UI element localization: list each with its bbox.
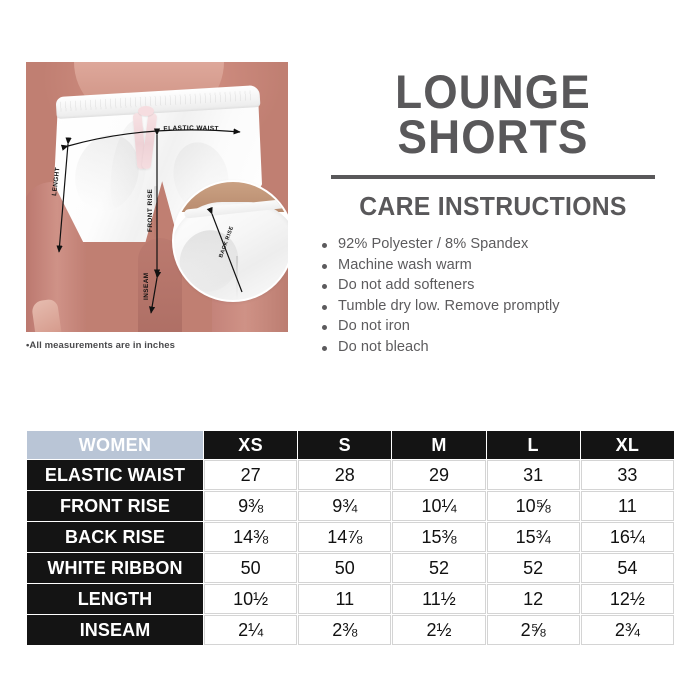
cell-white-ribbon-l: 52 xyxy=(487,553,580,583)
cell-elastic-waist-xl: 33 xyxy=(581,460,674,490)
product-photo-panel: ELASTIC WAIST LENGHT FRONT RISE INSEAM B… xyxy=(26,62,288,362)
size-table-body: ELASTIC WAIST 27 28 29 31 33 FRONT RISE … xyxy=(27,460,674,645)
cell-back-rise-xs: 14⅜ xyxy=(204,522,297,552)
table-row: LENGTH 10½ 11 11½ 12 12½ xyxy=(27,584,674,614)
inseam-arrow xyxy=(151,278,157,313)
row-label-front-rise: FRONT RISE xyxy=(27,491,203,521)
list-item: Do not bleach xyxy=(322,339,678,355)
list-item: Do not add softeners xyxy=(322,277,678,293)
cell-white-ribbon-m: 52 xyxy=(392,553,485,583)
care-instructions-heading: CARE INSTRUCTIONS xyxy=(314,193,673,222)
cell-back-rise-s: 14⅞ xyxy=(298,522,391,552)
callout-elastic-waist: ELASTIC WAIST xyxy=(163,125,219,133)
cell-elastic-waist-m: 29 xyxy=(392,460,485,490)
row-label-back-rise: BACK RISE xyxy=(27,522,203,552)
care-instruction-text: Tumble dry low. Remove promptly xyxy=(338,298,560,314)
table-corner-women-label: WOMEN xyxy=(27,431,203,459)
care-instruction-text: Do not add softeners xyxy=(338,277,474,293)
cell-inseam-m: 2½ xyxy=(392,615,485,645)
table-header-row: WOMEN XS S M L XL xyxy=(27,431,674,459)
table-row: INSEAM 2¼ 2⅜ 2½ 2⅝ 2¾ xyxy=(27,615,674,645)
product-info-panel: LOUNGE SHORTS CARE INSTRUCTIONS 92% Poly… xyxy=(308,70,678,359)
row-label-inseam: INSEAM xyxy=(27,615,203,645)
cell-front-rise-m: 10¼ xyxy=(392,491,485,521)
cell-elastic-waist-xs: 27 xyxy=(204,460,297,490)
cell-white-ribbon-xl: 54 xyxy=(581,553,674,583)
row-label-length: LENGTH xyxy=(27,584,203,614)
row-label-white-ribbon: WHITE RIBBON xyxy=(27,553,203,583)
column-header-m: M xyxy=(392,431,485,459)
cell-inseam-l: 2⅝ xyxy=(487,615,580,645)
column-header-xl: XL xyxy=(581,431,674,459)
cell-back-rise-xl: 16¼ xyxy=(581,522,674,552)
table-row: BACK RISE 14⅜ 14⅞ 15⅜ 15¾ 16¼ xyxy=(27,522,674,552)
size-chart: WOMEN XS S M L XL ELASTIC WAIST 27 28 29… xyxy=(26,430,675,646)
page-title: LOUNGE SHORTS xyxy=(319,70,667,159)
cell-front-rise-l: 10⅝ xyxy=(487,491,580,521)
cell-length-xs: 10½ xyxy=(204,584,297,614)
cell-back-rise-m: 15⅜ xyxy=(392,522,485,552)
cell-length-m: 11½ xyxy=(392,584,485,614)
title-line-2: SHORTS xyxy=(319,115,667,160)
cell-length-s: 11 xyxy=(298,584,391,614)
title-line-1: LOUNGE xyxy=(319,70,667,115)
cell-front-rise-s: 9¾ xyxy=(298,491,391,521)
cell-inseam-xs: 2¼ xyxy=(204,615,297,645)
care-instruction-text: Do not iron xyxy=(338,318,410,334)
list-item: Machine wash warm xyxy=(322,257,678,273)
cell-length-l: 12 xyxy=(487,584,580,614)
table-row: ELASTIC WAIST 27 28 29 31 33 xyxy=(27,460,674,490)
bullet-icon xyxy=(322,305,327,310)
measurement-callouts: ELASTIC WAIST LENGHT FRONT RISE INSEAM B… xyxy=(26,62,288,332)
column-header-s: S xyxy=(298,431,391,459)
size-table-head: WOMEN XS S M L XL xyxy=(27,431,674,459)
title-divider xyxy=(331,175,655,179)
callout-inseam: INSEAM xyxy=(143,272,150,300)
cell-back-rise-l: 15¾ xyxy=(487,522,580,552)
bullet-icon xyxy=(322,325,327,330)
size-table: WOMEN XS S M L XL ELASTIC WAIST 27 28 29… xyxy=(26,430,675,646)
care-instruction-text: Machine wash warm xyxy=(338,257,472,273)
cell-white-ribbon-s: 50 xyxy=(298,553,391,583)
cell-inseam-s: 2⅜ xyxy=(298,615,391,645)
column-header-xs: XS xyxy=(204,431,297,459)
bullet-icon xyxy=(322,284,327,289)
cell-length-xl: 12½ xyxy=(581,584,674,614)
cell-white-ribbon-xs: 50 xyxy=(204,553,297,583)
callout-front-rise: FRONT RISE xyxy=(147,189,154,232)
bullet-icon xyxy=(322,243,327,248)
top-section: ELASTIC WAIST LENGHT FRONT RISE INSEAM B… xyxy=(0,0,700,420)
bullet-icon xyxy=(322,264,327,269)
length-arrow xyxy=(59,144,68,252)
callout-length: LENGHT xyxy=(51,167,61,197)
cell-elastic-waist-s: 28 xyxy=(298,460,391,490)
list-item: Tumble dry low. Remove promptly xyxy=(322,298,678,314)
list-item: Do not iron xyxy=(322,318,678,334)
list-item: 92% Polyester / 8% Spandex xyxy=(322,236,678,252)
table-row: WHITE RIBBON 50 50 52 52 54 xyxy=(27,553,674,583)
column-header-l: L xyxy=(487,431,580,459)
measurement-note: •All measurements are in inches xyxy=(26,340,288,351)
cell-front-rise-xl: 11 xyxy=(581,491,674,521)
back-rise-arrow xyxy=(212,214,242,292)
cell-inseam-xl: 2¾ xyxy=(581,615,674,645)
care-instructions-list: 92% Polyester / 8% Spandex Machine wash … xyxy=(308,236,678,355)
care-instruction-text: Do not bleach xyxy=(338,339,429,355)
product-photo: ELASTIC WAIST LENGHT FRONT RISE INSEAM B… xyxy=(26,62,288,332)
cell-front-rise-xs: 9⅜ xyxy=(204,491,297,521)
table-row: FRONT RISE 9⅜ 9¾ 10¼ 10⅝ 11 xyxy=(27,491,674,521)
care-instruction-text: 92% Polyester / 8% Spandex xyxy=(338,236,528,252)
row-label-elastic-waist: ELASTIC WAIST xyxy=(27,460,203,490)
cell-elastic-waist-l: 31 xyxy=(487,460,580,490)
bullet-icon xyxy=(322,346,327,351)
